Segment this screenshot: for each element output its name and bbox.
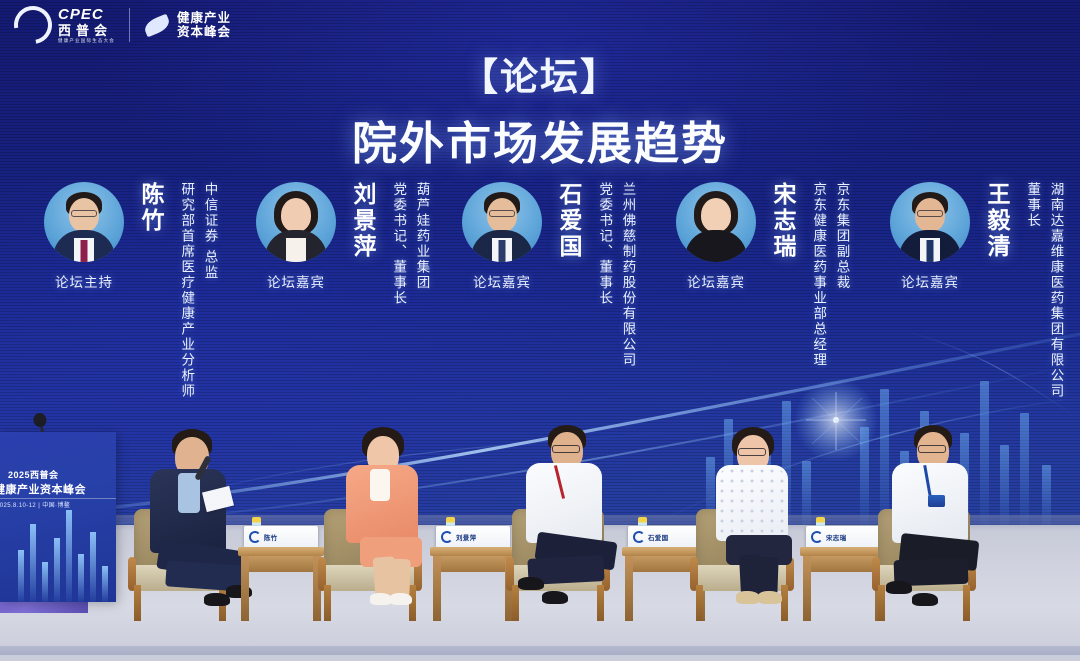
forum-title: 【论坛】 院外市场发展趋势 (0, 46, 1080, 172)
panelist-position-3: 京东健康医药事业部总经理 (808, 182, 828, 368)
person-panelist-1 (336, 427, 436, 607)
panelist-role-2: 论坛嘉宾 (473, 271, 531, 291)
health-capital-summit-logo: 健康产业 资本峰会 (144, 11, 231, 40)
nameplate-text-1: 刘景萍 (456, 532, 476, 542)
panelist-role-1: 论坛嘉宾 (267, 271, 325, 291)
panelist-name-4: 王毅清 (980, 182, 1014, 260)
nameplate-3: 宋志瑞 (806, 526, 880, 548)
panelist-org-2: 兰州佛慈制药股份有限公司 (617, 182, 637, 368)
panel-seating-row: 陈竹 (0, 391, 1080, 621)
forum-title-line2: 院外市场发展趋势 (0, 107, 1080, 172)
person-panelist-4 (884, 425, 988, 607)
panelist-org-1: 葫芦娃药业集团 (411, 182, 431, 306)
logo-divider (129, 8, 130, 42)
panelist-name-1: 刘景萍 (346, 182, 380, 260)
nameplate-logo-icon (811, 531, 823, 543)
nameplate-text-0: 陈竹 (264, 532, 278, 542)
person-panelist-3 (706, 427, 806, 607)
panelist-role-0: 论坛主持 (55, 271, 113, 291)
panelist-name-3: 宋志瑞 (766, 182, 800, 260)
cpec-logo: CPEC 西普会 健康产业国际生态大会 (14, 6, 115, 44)
person-panelist-2 (518, 425, 622, 607)
forum-title-line1: 【论坛】 (0, 46, 1080, 101)
nameplate-0: 陈竹 (244, 526, 318, 548)
attendee-badge (928, 495, 945, 507)
stage-floor-edge (0, 646, 1080, 655)
hc-logo-line1: 健康产业 (177, 11, 231, 25)
nameplate-logo-icon (249, 531, 261, 543)
side-table-0: 陈竹 (238, 547, 324, 621)
nameplate-logo-icon (441, 531, 453, 543)
panelist-portrait-1 (256, 182, 336, 262)
event-logo-bar: CPEC 西普会 健康产业国际生态大会 健康产业 资本峰会 (0, 0, 247, 52)
person-moderator (142, 429, 252, 607)
panelist-banner-0: 论坛主持 陈竹 中信证券 总监 研究部首席医疗健康产业分析师 (38, 182, 220, 399)
panelist-name-2: 石爱国 (552, 182, 586, 260)
nameplate-text-3: 宋志瑞 (826, 532, 846, 542)
nameplate-logo-icon (633, 531, 645, 543)
panelist-position-4: 董事长 (1022, 182, 1042, 399)
panelist-banner-1: 论坛嘉宾 刘景萍 葫芦娃药业集团 党委书记、董事长 (250, 182, 432, 306)
cpec-logo-cn: 西普会 (58, 24, 115, 37)
panelist-name-0: 陈竹 (134, 182, 168, 234)
panelist-org-4: 湖南达嘉维康医药集团有限公司 (1045, 182, 1065, 399)
panelist-portrait-2 (462, 182, 542, 262)
panelist-portrait-0 (44, 182, 124, 262)
panelist-portrait-4 (890, 182, 970, 262)
cpec-logo-sub: 健康产业国际生态大会 (58, 39, 115, 44)
cpec-ring-icon (7, 0, 60, 51)
side-table-1: 刘景萍 (430, 547, 516, 621)
nameplate-1: 刘景萍 (436, 526, 510, 548)
panelist-banner-4: 论坛嘉宾 王毅清 湖南达嘉维康医药集团有限公司 董事长 (884, 182, 1066, 399)
panelist-role-4: 论坛嘉宾 (901, 271, 959, 291)
panelist-portrait-3 (676, 182, 756, 262)
panelist-position-0: 研究部首席医疗健康产业分析师 (176, 182, 196, 399)
panelist-banner-3: 论坛嘉宾 宋志瑞 京东集团副总裁 京东健康医药事业部总经理 (670, 182, 852, 368)
panelist-position-1: 党委书记、董事长 (388, 182, 408, 306)
hc-logo-line2: 资本峰会 (177, 25, 231, 39)
leaf-icon (142, 13, 172, 37)
panelist-banner-2: 论坛嘉宾 石爱国 兰州佛慈制药股份有限公司 党委书记、董事长 (456, 182, 638, 368)
panelist-role-3: 论坛嘉宾 (687, 271, 745, 291)
panelist-org-0: 中信证券 总监 (199, 182, 219, 399)
nameplate-text-2: 石爱国 (648, 532, 668, 542)
panelist-position-2: 党委书记、董事长 (594, 182, 614, 368)
conference-stage-photo: CPEC 西普会 健康产业国际生态大会 健康产业 资本峰会 【论坛】 院外市场发… (0, 0, 1080, 661)
cpec-logo-en: CPEC (58, 7, 115, 22)
panelist-org-3: 京东集团副总裁 (831, 182, 851, 368)
